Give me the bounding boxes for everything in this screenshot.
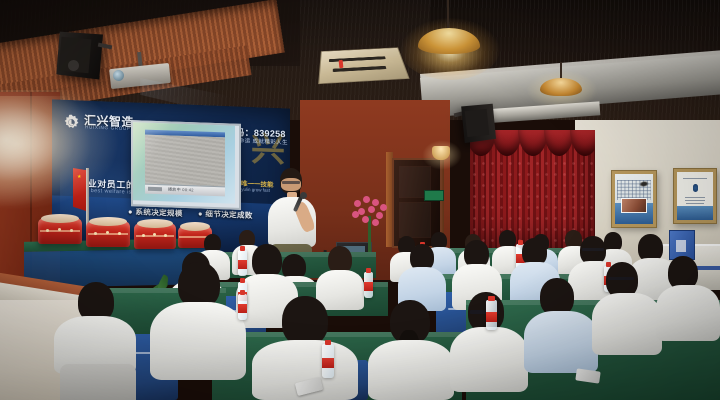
chinese-drum — [86, 221, 130, 247]
presenter-face — [281, 178, 301, 191]
pendant-lamp-2 — [540, 78, 582, 96]
pendant-lamp-cord — [447, 0, 449, 30]
air-conditioner-cassette — [318, 47, 409, 84]
storage-box-label — [676, 240, 686, 252]
water-bottle — [238, 294, 247, 320]
wall-light-glow — [0, 96, 90, 206]
meeting-room-photo: 汇 兴 汇兴智造 HUIXING GROUP 代码：839258 改变命运 成就… — [0, 0, 720, 400]
glasses-icon — [282, 181, 300, 184]
microphone-head-icon — [300, 192, 307, 199]
water-bottle — [238, 250, 247, 276]
banner-footer-right: ● 细节决定成败 — [198, 208, 253, 221]
water-bottle — [364, 272, 373, 298]
screen-glare — [131, 120, 237, 206]
water-bottle — [486, 300, 497, 330]
company-name-en: HUIXING GROUP — [85, 124, 131, 131]
glasses-icon — [608, 277, 634, 280]
banner-footer-left: ● 系统决定规模 — [128, 206, 183, 219]
door-panel-lower — [399, 202, 431, 238]
exit-sign — [424, 190, 444, 201]
poster-certificate-sea — [673, 168, 717, 224]
water-bottle — [322, 344, 334, 378]
chinese-drum — [134, 223, 176, 249]
poster-eagle-calendar — [611, 170, 657, 228]
air-conditioner-indicator — [339, 60, 344, 68]
glasses-icon — [582, 248, 604, 251]
loudspeaker-right-grille — [465, 109, 490, 137]
chinese-drum — [38, 218, 82, 244]
wall-sconce — [432, 146, 450, 160]
flower-arrangement — [350, 196, 390, 224]
